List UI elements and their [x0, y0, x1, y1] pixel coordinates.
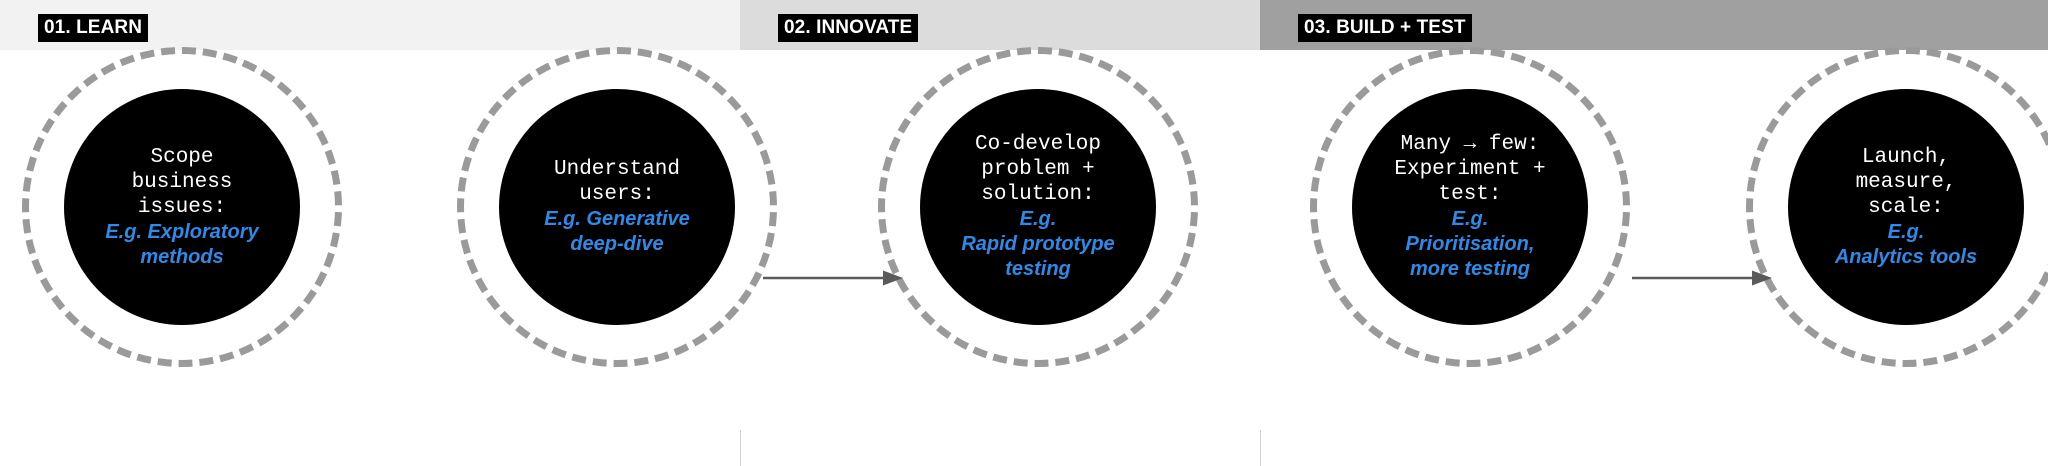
node-title-4: Many → few: Experiment + test:	[1394, 132, 1545, 207]
band-divider-2	[1260, 430, 1261, 466]
node-example-4: E.g. Prioritisation, more testing	[1406, 207, 1535, 282]
node-example-5: E.g. Analytics tools	[1835, 220, 1977, 270]
flow-arrow-2	[1632, 269, 1772, 287]
phase-band-label-3: 03. BUILD + TEST	[1298, 14, 1472, 42]
process-node-4[interactable]: Many → few: Experiment + test:E.g. Prior…	[1352, 89, 1588, 325]
node-title-2: Understand users:	[554, 157, 680, 207]
flow-arrow-1	[763, 269, 903, 287]
process-node-3[interactable]: Co-develop problem + solution:E.g. Rapid…	[920, 89, 1156, 325]
node-example-1: E.g. Exploratory methods	[105, 220, 258, 270]
process-node-5[interactable]: Launch, measure, scale:E.g. Analytics to…	[1788, 89, 2024, 325]
process-node-1[interactable]: Scope business issues:E.g. Exploratory m…	[64, 89, 300, 325]
node-title-5: Launch, measure, scale:	[1856, 145, 1957, 220]
process-node-2[interactable]: Understand users:E.g. Generative deep-di…	[499, 89, 735, 325]
band-divider-1	[740, 430, 741, 466]
phase-band-label-2: 02. INNOVATE	[778, 14, 918, 42]
node-title-1: Scope business issues:	[132, 145, 233, 220]
node-example-3: E.g. Rapid prototype testing	[961, 207, 1114, 282]
process-diagram: 01. LEARN02. INNOVATE03. BUILD + TEST Sc…	[0, 0, 2048, 466]
node-example-2: E.g. Generative deep-dive	[544, 207, 690, 257]
phase-band-label-1: 01. LEARN	[38, 14, 148, 42]
node-title-3: Co-develop problem + solution:	[975, 132, 1101, 207]
